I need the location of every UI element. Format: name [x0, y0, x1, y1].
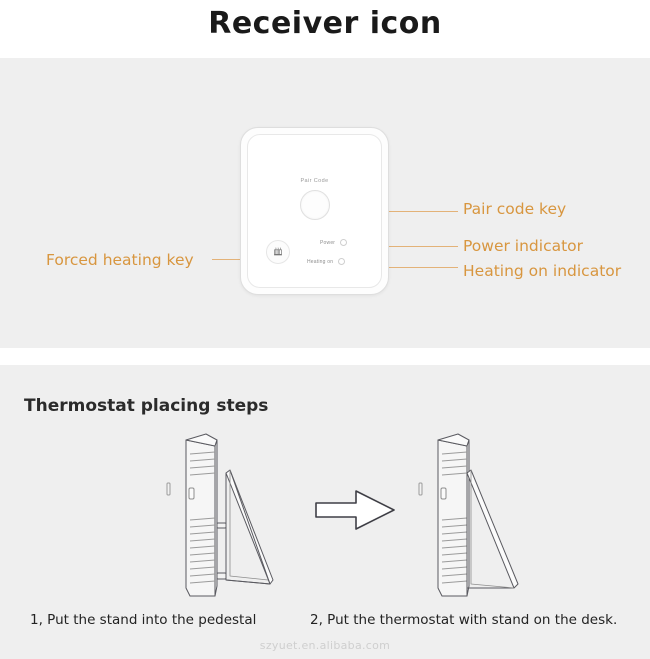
heating-on-label: Heating on — [307, 259, 333, 265]
illustration-thermostat-and-stand-separate — [160, 428, 300, 603]
arrow-right-icon — [310, 483, 400, 538]
forced-heating-button[interactable] — [266, 240, 290, 264]
steps-title: Thermostat placing steps — [24, 396, 268, 416]
heating-indicator-row: Heating on — [307, 258, 345, 265]
callout-heating-on-indicator: Heating on indicator — [463, 262, 621, 280]
product-info-page: Receiver icon Pair Code Power — [0, 0, 650, 659]
power-label: Power — [320, 240, 335, 246]
receiver-device: Pair Code Power Heating on — [240, 127, 389, 295]
step-caption-1: 1, Put the stand into the pedestal — [30, 612, 256, 628]
section-divider — [0, 348, 650, 365]
watermark: szyuet.en.alibaba.com — [0, 639, 650, 652]
pair-code-label: Pair Code — [241, 178, 388, 184]
radiator-icon — [273, 247, 284, 258]
callout-pair-code-key: Pair code key — [463, 200, 566, 218]
power-indicator-row: Power — [320, 239, 347, 246]
step-caption-2: 2, Put the thermostat with stand on the … — [310, 612, 617, 628]
heating-led-icon — [338, 258, 345, 265]
illustration-thermostat-with-stand-assembled — [412, 428, 552, 603]
page-title: Receiver icon — [0, 6, 650, 41]
callout-power-indicator: Power indicator — [463, 237, 583, 255]
power-led-icon — [340, 239, 347, 246]
pair-code-button[interactable] — [300, 190, 330, 220]
header-band: Receiver icon — [0, 0, 650, 58]
callout-forced-heating-key: Forced heating key — [46, 251, 194, 269]
